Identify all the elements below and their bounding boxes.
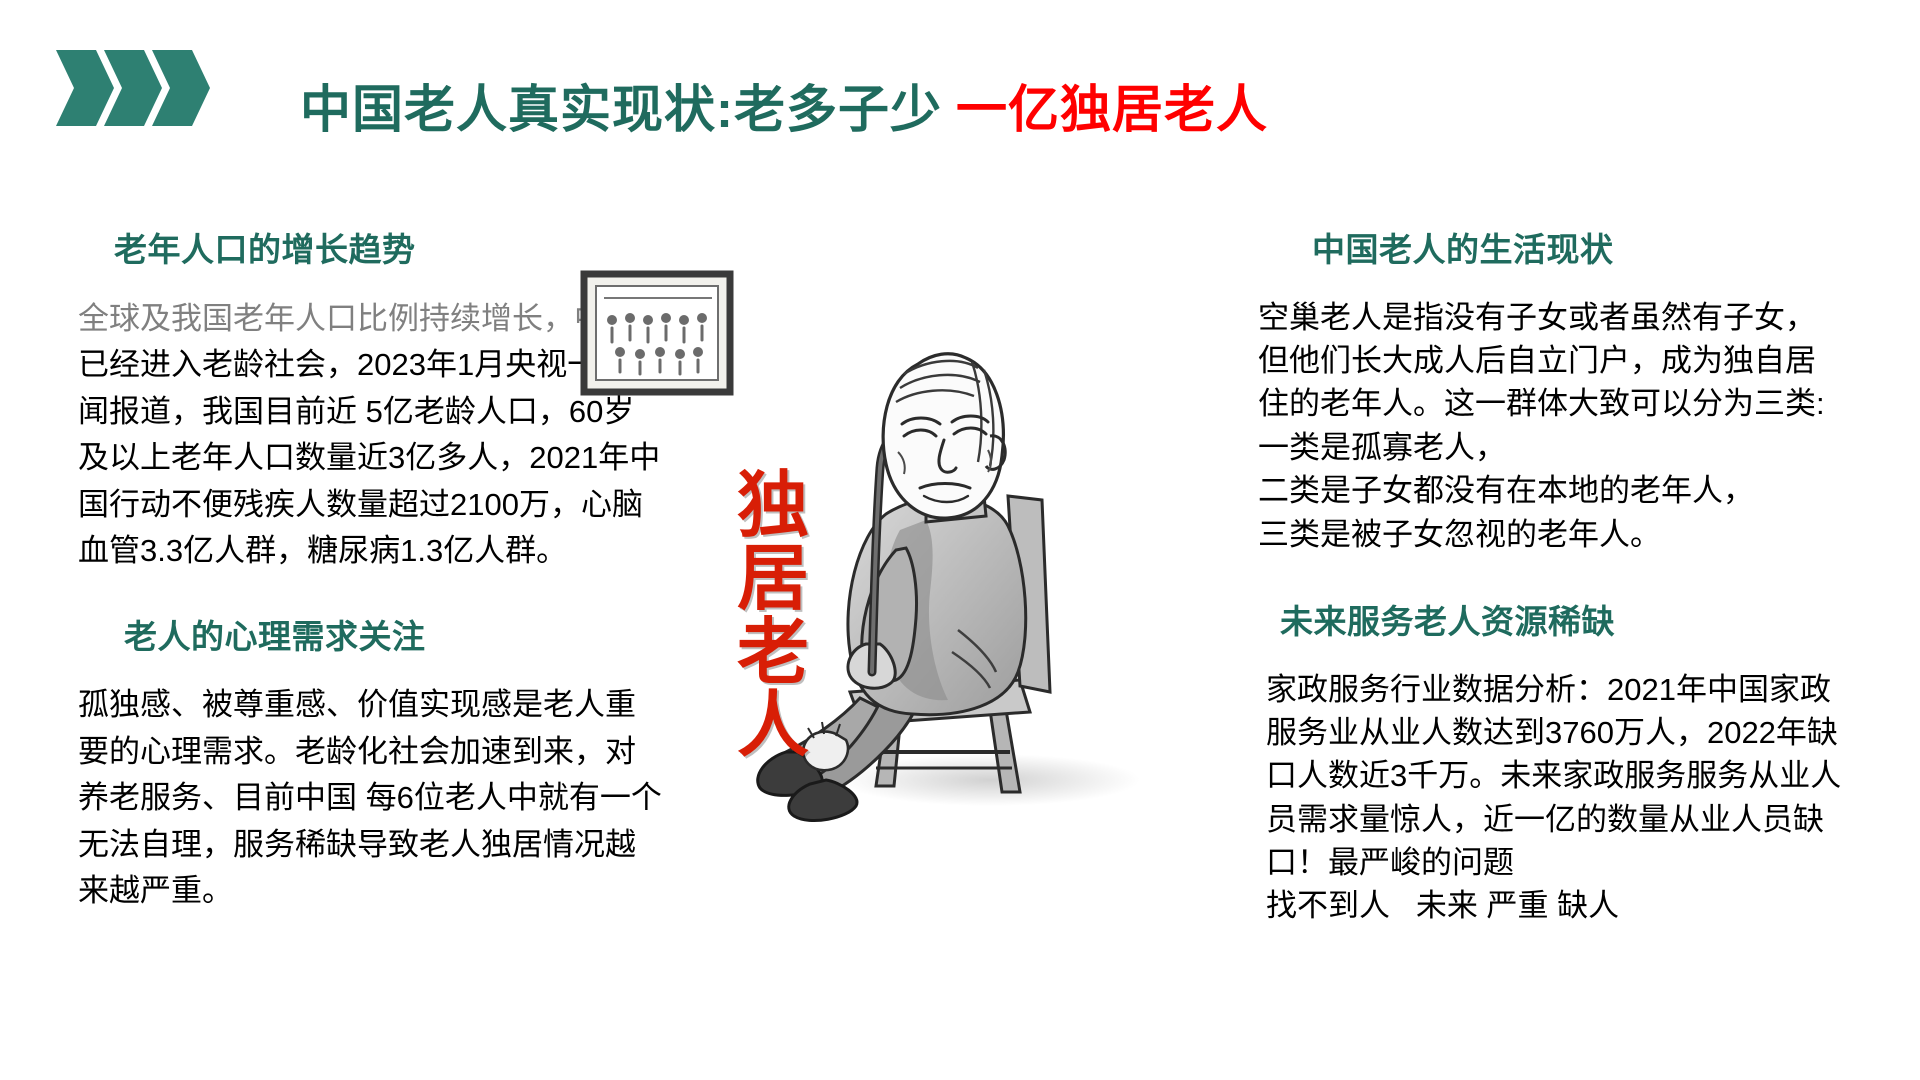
right-section-1-body: 空巢老人是指没有子女或者虽然有子女，但他们长大成人后自立门户，成为独自居住的老年… xyxy=(1258,296,1843,556)
right-section-2-body: 家政服务行业数据分析：2021年中国家政服务业从业人数达到3760万人，2022… xyxy=(1258,668,1843,928)
right-column-spacer-1 xyxy=(1258,556,1843,602)
caption-char-4: 人 xyxy=(718,690,828,763)
right-section-2-heading: 未来服务老人资源稀缺 xyxy=(1258,602,1843,642)
right-section-1-heading: 中国老人的生活现状 xyxy=(1258,230,1843,270)
left-section-1-body: 全球及我国老年人口比例持续增长，中国已经进入老龄社会，2023年1月央视一台新闻… xyxy=(78,296,663,575)
left-section-2-heading: 老人的心理需求关注 xyxy=(78,617,663,657)
page-title: 中国老人真实现状:老多子少一亿独居老人 xyxy=(300,78,1500,148)
left-section-1-heading: 老年人口的增长趋势 xyxy=(78,230,663,270)
left-section-2-body: 孤独感、被尊重感、价值实现感是老人重要的心理需求。老龄化社会加速到来，对养老服务… xyxy=(78,682,663,915)
page-title-main: 中国老人真实现状:老多子少 xyxy=(300,81,942,138)
triple-chevron-right-icon xyxy=(56,48,246,128)
caption-char-2: 居 xyxy=(718,543,828,616)
page-title-accent: 一亿独居老人 xyxy=(956,81,1268,138)
left-column: 老年人口的增长趋势 全球及我国老年人口比例持续增长，中国已经进入老龄社会，202… xyxy=(78,230,663,915)
left-column-spacer-1 xyxy=(78,575,663,617)
caption-char-1: 独 xyxy=(718,470,828,543)
right-column: 中国老人的生活现状 空巢老人是指没有子女或者虽然有子女，但他们长大成人后自立门户… xyxy=(1258,230,1843,928)
illustration-vertical-caption: 独 居 老 人 xyxy=(718,470,828,764)
framed-family-photo xyxy=(578,268,738,408)
caption-char-3: 老 xyxy=(718,617,828,690)
